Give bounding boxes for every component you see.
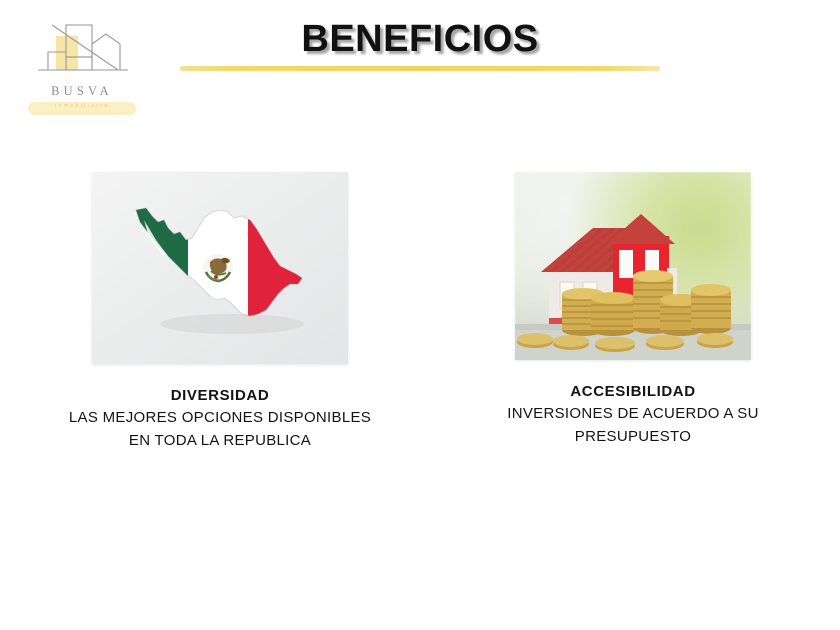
benefit-column-diversidad: DIVERSIDAD LAS MEJORES OPCIONES DISPONIB… [14, 172, 426, 452]
benefit-body-line-2: PRESUPUESTO [440, 426, 826, 448]
page-title: BENEFICIOS [0, 18, 840, 61]
benefit-body-line-2: EN TODA LA REPUBLICA [14, 430, 426, 452]
benefit-heading: DIVERSIDAD [14, 386, 426, 406]
benefit-heading: ACCESIBILIDAD [440, 382, 826, 402]
logo-tagline: inmobiliaria [28, 103, 136, 109]
title-divider [180, 66, 660, 71]
benefit-caption-diversidad: DIVERSIDAD LAS MEJORES OPCIONES DISPONIB… [14, 386, 426, 452]
house-with-coin-stacks-image [515, 172, 751, 360]
benefit-body-line-1: LAS MEJORES OPCIONES DISPONIBLES [14, 407, 426, 429]
benefit-body-line-1: INVERSIONES DE ACUERDO A SU [440, 403, 826, 425]
logo-wordmark: BUSVA [22, 84, 142, 99]
benefit-column-accesibilidad: ACCESIBILIDAD INVERSIONES DE ACUERDO A S… [440, 172, 826, 448]
benefit-caption-accesibilidad: ACCESIBILIDAD INVERSIONES DE ACUERDO A S… [440, 382, 826, 448]
logo-tagline-pill: inmobiliaria [28, 102, 136, 115]
mexico-map-flag-image [92, 172, 348, 364]
